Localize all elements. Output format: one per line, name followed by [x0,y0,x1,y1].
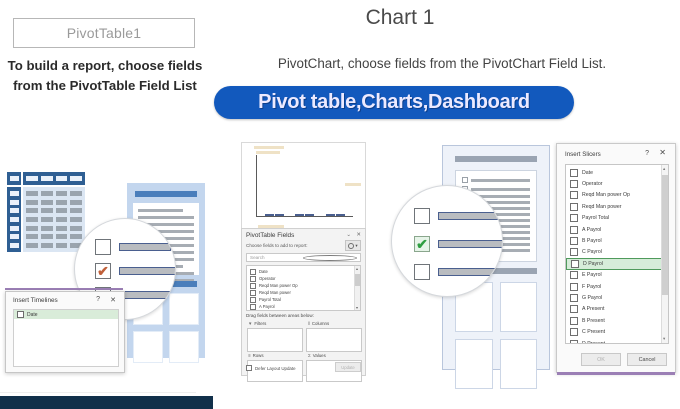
field-list-item[interactable]: Operator [247,275,360,282]
bar-series2 [336,214,345,216]
slicer-list-item[interactable]: Payrol Total [566,213,668,224]
checkbox-icon[interactable] [570,180,578,188]
field-label: Payrol Total [259,297,281,302]
row-bar [119,291,171,299]
cancel-label: Cancel [639,357,656,363]
magnifier-row [95,239,171,255]
slicer-list-item-selected[interactable]: D Payrol [566,258,668,269]
field-list-item[interactable]: Reqd Man power [247,289,360,296]
drop-zone-rows[interactable] [247,360,303,382]
timelines-field-list[interactable]: Date [13,309,119,367]
row-bar [119,243,171,251]
bar-series2 [275,214,284,216]
left-doc-tile [169,293,199,325]
checkbox-icon[interactable] [246,365,252,371]
zone-text: Values [313,353,326,358]
checkbox-icon[interactable] [250,276,256,282]
field-label: A Payrol [259,304,275,309]
field-label: Reqd Man power Op [259,283,298,288]
row-bar [438,212,498,220]
slicer-item-label: Reqd Man power Op [582,192,630,198]
slicer-list-item[interactable]: Reqd Man power Op [566,190,668,201]
chevron-down-icon[interactable]: ▾ [355,243,357,249]
screenshot-canvas: PivotTable1 To build a report, choose fi… [0,0,680,409]
right-doc-title-bar [455,156,537,162]
checkbox-icon[interactable] [250,304,256,310]
cancel-button[interactable]: Cancel [627,353,667,366]
slicer-list-item[interactable]: Reqd Man power [566,201,668,212]
right-doc-tile [455,339,493,389]
checkbox-icon[interactable] [570,214,578,222]
pivottable-name-label: PivotTable1 [67,25,142,41]
slicer-item-label: D Payrol [583,261,603,267]
slicer-list-item[interactable]: Operator [566,178,668,189]
pivottable-fields-list[interactable]: Date Operator Reqd Man power Op Reqd Man… [246,265,361,311]
banner-label: Pivot table,Charts,Dashboard [258,91,530,114]
slicer-list-item[interactable]: G Payrol [566,292,668,303]
scroll-up-icon[interactable]: ▴ [663,166,665,172]
checkbox-icon[interactable] [570,203,578,211]
scrollbar-thumb[interactable] [662,175,668,295]
right-doc-tile-grid [455,282,537,389]
slicer-item-label: G Payrol [582,295,602,301]
drop-zone-filters[interactable] [247,328,303,352]
close-icon[interactable]: ✕ [659,149,666,157]
checkbox-icon[interactable] [570,283,578,291]
checkbox-icon[interactable] [570,191,578,199]
slicer-list-item[interactable]: D Present [566,338,668,344]
search-input[interactable]: Search [246,253,361,262]
checkbox-checked-icon[interactable]: ✔ [414,236,430,252]
bottom-divider [0,392,196,393]
magnifier-row-selected: ✔ [414,236,503,252]
bar-series2 [305,214,314,216]
pivottable-name-box: PivotTable1 [13,18,195,48]
pivottable-fields-title: PivotTable Fields [246,232,294,239]
update-button[interactable]: Update [335,362,361,372]
rows-icon: ≡ [248,353,251,358]
checkbox-unchecked-icon[interactable] [414,264,430,280]
field-list-item[interactable]: Payrol Total [247,296,360,303]
bar-series1 [295,214,304,216]
table-illustration [7,172,85,252]
magnifier-row [414,208,498,224]
field-label: Date [259,269,268,274]
chart-y-axis [256,155,257,217]
table-row-headers [7,187,21,252]
slicer-list-item[interactable]: A Present [566,304,668,315]
table-corner-cell [7,172,21,185]
insert-slicers-dialog: Insert Slicers ? ✕ Date Operator Reqd Ma… [556,143,676,373]
checkbox-icon[interactable] [17,311,24,318]
magnifier-row [414,264,498,280]
fields-scrollbar[interactable]: ▴ ▾ [354,266,360,310]
right-doc-tile [500,282,538,332]
checkbox-icon[interactable] [570,271,578,279]
page-title: Chart 1 [300,6,500,30]
scroll-down-icon[interactable]: ▾ [663,336,665,342]
gear-icon[interactable]: ▾ [345,240,361,251]
checkbox-icon[interactable] [570,169,578,177]
checkbox-icon[interactable] [250,297,256,303]
close-icon[interactable]: ✕ [110,296,116,304]
checkbox-icon[interactable] [570,340,578,344]
drag-fields-hint: Drag fields between areas below: [246,313,314,318]
bar-series1 [326,214,335,216]
slicers-accent-bar [557,372,675,375]
slicers-field-list[interactable]: Date Operator Reqd Man power Op Reqd Man… [565,164,669,344]
checkbox-unchecked-icon[interactable] [95,239,111,255]
table-body [23,187,85,252]
checkbox-icon[interactable] [570,317,578,325]
chart-legend-placeholder [254,146,284,149]
right-magnifier: ✔ [391,185,503,297]
update-label: Update [341,365,355,370]
chart-legend-placeholder [256,151,280,154]
timelines-list-item[interactable]: Date [14,310,118,319]
values-icon: Σ [308,353,311,358]
checkbox-icon[interactable] [570,226,578,234]
left-doc-title-bar [135,191,197,197]
pivottable-instruction-text: To build a report, choose fields from th… [4,56,206,97]
slicer-item-label: F Payrol [582,284,601,290]
checkbox-icon[interactable] [570,237,578,245]
checkbox-icon[interactable] [250,290,256,296]
checkbox-checked-icon[interactable]: ✔ [95,263,111,279]
defer-layout-update[interactable]: Defer Layout Update [246,365,296,371]
check-glyph: ✔ [416,237,428,251]
help-icon[interactable]: ? [645,150,649,157]
slicer-item-label: A Payrol [582,227,601,233]
banner-pill: Pivot table,Charts,Dashboard [214,86,574,119]
slicer-item-label: B Present [582,318,605,324]
chart-plot-area [256,155,353,217]
insert-timelines-dialog: Insert Timelines ? ✕ Date [5,291,125,373]
checkbox-icon[interactable] [570,328,578,336]
slicer-item-label: B Payrol [582,238,602,244]
field-list-item[interactable]: A Payrol [247,303,360,310]
slicer-list-item[interactable]: F Payrol [566,281,668,292]
pivottable-fields-pane: PivotTable Fields ⌄ ✕ Choose fields to a… [241,228,366,376]
slicer-list-item[interactable]: Date [566,167,668,178]
bar-series1 [265,214,274,216]
bar-group [265,214,284,216]
slicer-list-item[interactable]: B Payrol [566,235,668,246]
filter-icon: ▼ [248,321,252,326]
row-bar [438,268,498,276]
checkbox-icon[interactable] [570,248,578,256]
slicer-list-item[interactable]: B Present [566,315,668,326]
search-placeholder: Search [250,255,303,260]
chart-bars [259,155,351,216]
zone-label-filters: ▼ Filters [248,321,266,326]
chevron-down-icon[interactable]: ⌄ [346,232,351,238]
bar-group [326,214,345,216]
field-label: Reqd Man power [259,290,291,295]
slicer-item-label: Date [582,170,593,176]
help-icon[interactable]: ? [96,296,100,303]
scroll-up-icon[interactable]: ▴ [356,266,358,271]
scrollbar-thumb[interactable] [355,274,360,286]
chart-x-axis [256,216,353,217]
zone-label-rows: ≡ Rows [248,353,264,358]
slicer-item-label: Reqd Man power [582,204,622,210]
left-doc-tile [169,331,199,363]
ok-button[interactable]: OK [581,353,621,366]
zone-text: Columns [312,321,329,326]
timelines-accent-bar [5,288,123,290]
bottom-navy-bar [0,396,213,409]
timelines-item-label: Date [27,312,38,318]
field-list-item[interactable]: Reqd Man power Op [247,282,360,289]
checkbox-icon[interactable] [250,269,256,275]
checkbox-icon[interactable] [250,283,256,289]
magnifier-row-selected: ✔ [95,263,176,279]
zone-label-columns: ‖ Columns [308,321,329,326]
slicers-dialog-buttons: OK Cancel [581,353,667,366]
pivotchart-thumbnail [241,142,366,232]
zone-text: Rows [253,353,264,358]
row-bar [438,240,503,248]
drop-zone-columns[interactable] [306,328,362,352]
pivotchart-instruction-text: PivotChart, choose fields from the Pivot… [212,56,672,71]
slicers-scrollbar[interactable]: ▴ ▾ [661,165,668,343]
checkbox-unchecked-icon[interactable] [414,208,430,224]
slicer-list-item[interactable]: C Payrol [566,247,668,258]
right-doc-tile [500,339,538,389]
check-glyph: ✔ [97,264,109,278]
slicer-item-label: C Payrol [582,249,602,255]
slicer-item-label: D Present [582,341,605,344]
zone-label-values: Σ Values [308,353,326,358]
row-bar [119,267,176,275]
slicer-item-label: Payrol Total [582,215,609,221]
insert-slicers-title: Insert Slicers [565,151,601,158]
field-list-item[interactable]: Date [247,268,360,275]
insert-timelines-title: Insert Timelines [13,297,58,304]
columns-icon: ‖ [308,321,310,326]
defer-label: Defer Layout Update [255,366,296,371]
zone-text: Filters [254,321,266,326]
search-icon [303,255,358,261]
checkbox-icon[interactable] [571,260,579,268]
slicer-list-item[interactable]: C Present [566,326,668,337]
ok-label: OK [597,357,605,363]
bar-group [295,214,314,216]
pivottable-fields-subtitle: Choose fields to add to report: [246,243,308,248]
slicer-item-label: A Present [582,306,605,312]
slicer-item-label: Operator [582,181,602,187]
table-header-row [23,172,85,185]
slicer-item-label: E Payrol [582,272,602,278]
left-doc-tile [133,331,163,363]
field-label: Operator [259,276,276,281]
checkbox-icon[interactable] [570,305,578,313]
slicer-list-item[interactable]: E Payrol [566,270,668,281]
slicer-list-item[interactable]: A Payrol [566,224,668,235]
checkbox-icon[interactable] [570,294,578,302]
close-icon[interactable]: ✕ [356,232,361,238]
slicer-item-label: C Present [582,329,605,335]
scroll-down-icon[interactable]: ▾ [356,305,358,310]
